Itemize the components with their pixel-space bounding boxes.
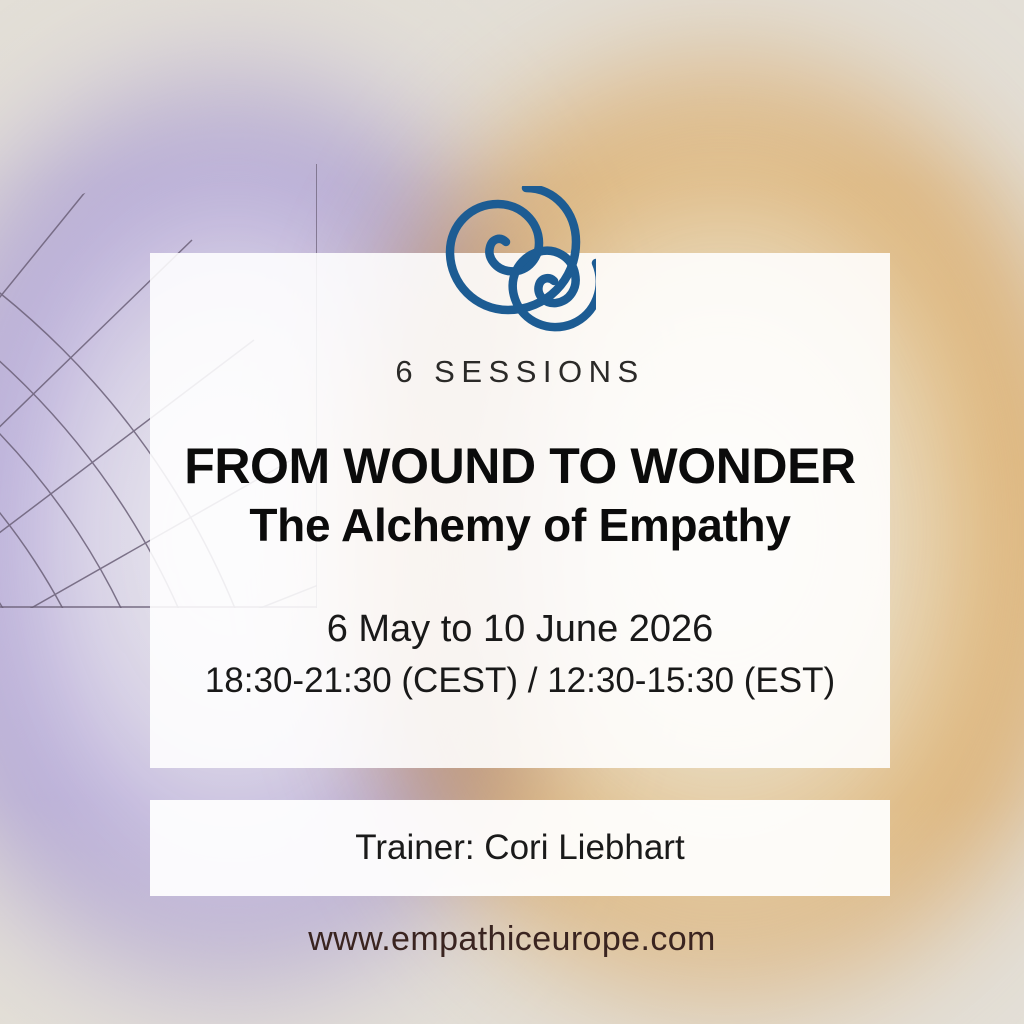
page-subtitle: The Alchemy of Empathy (249, 502, 790, 548)
sessions-eyebrow: 6 SESSIONS (395, 354, 644, 390)
main-content: 6 SESSIONS FROM WOUND TO WONDER The Alch… (150, 253, 890, 768)
event-date-range: 6 May to 10 June 2026 (327, 610, 714, 648)
website-url[interactable]: www.empathiceurope.com (0, 920, 1024, 959)
page-title: FROM WOUND TO WONDER (184, 441, 856, 491)
event-time-range: 18:30-21:30 (CEST) / 12:30-15:30 (EST) (205, 663, 835, 698)
poster-canvas: 6 SESSIONS FROM WOUND TO WONDER The Alch… (0, 0, 1024, 1024)
trainer-label: Trainer: Cori Liebhart (150, 800, 890, 896)
